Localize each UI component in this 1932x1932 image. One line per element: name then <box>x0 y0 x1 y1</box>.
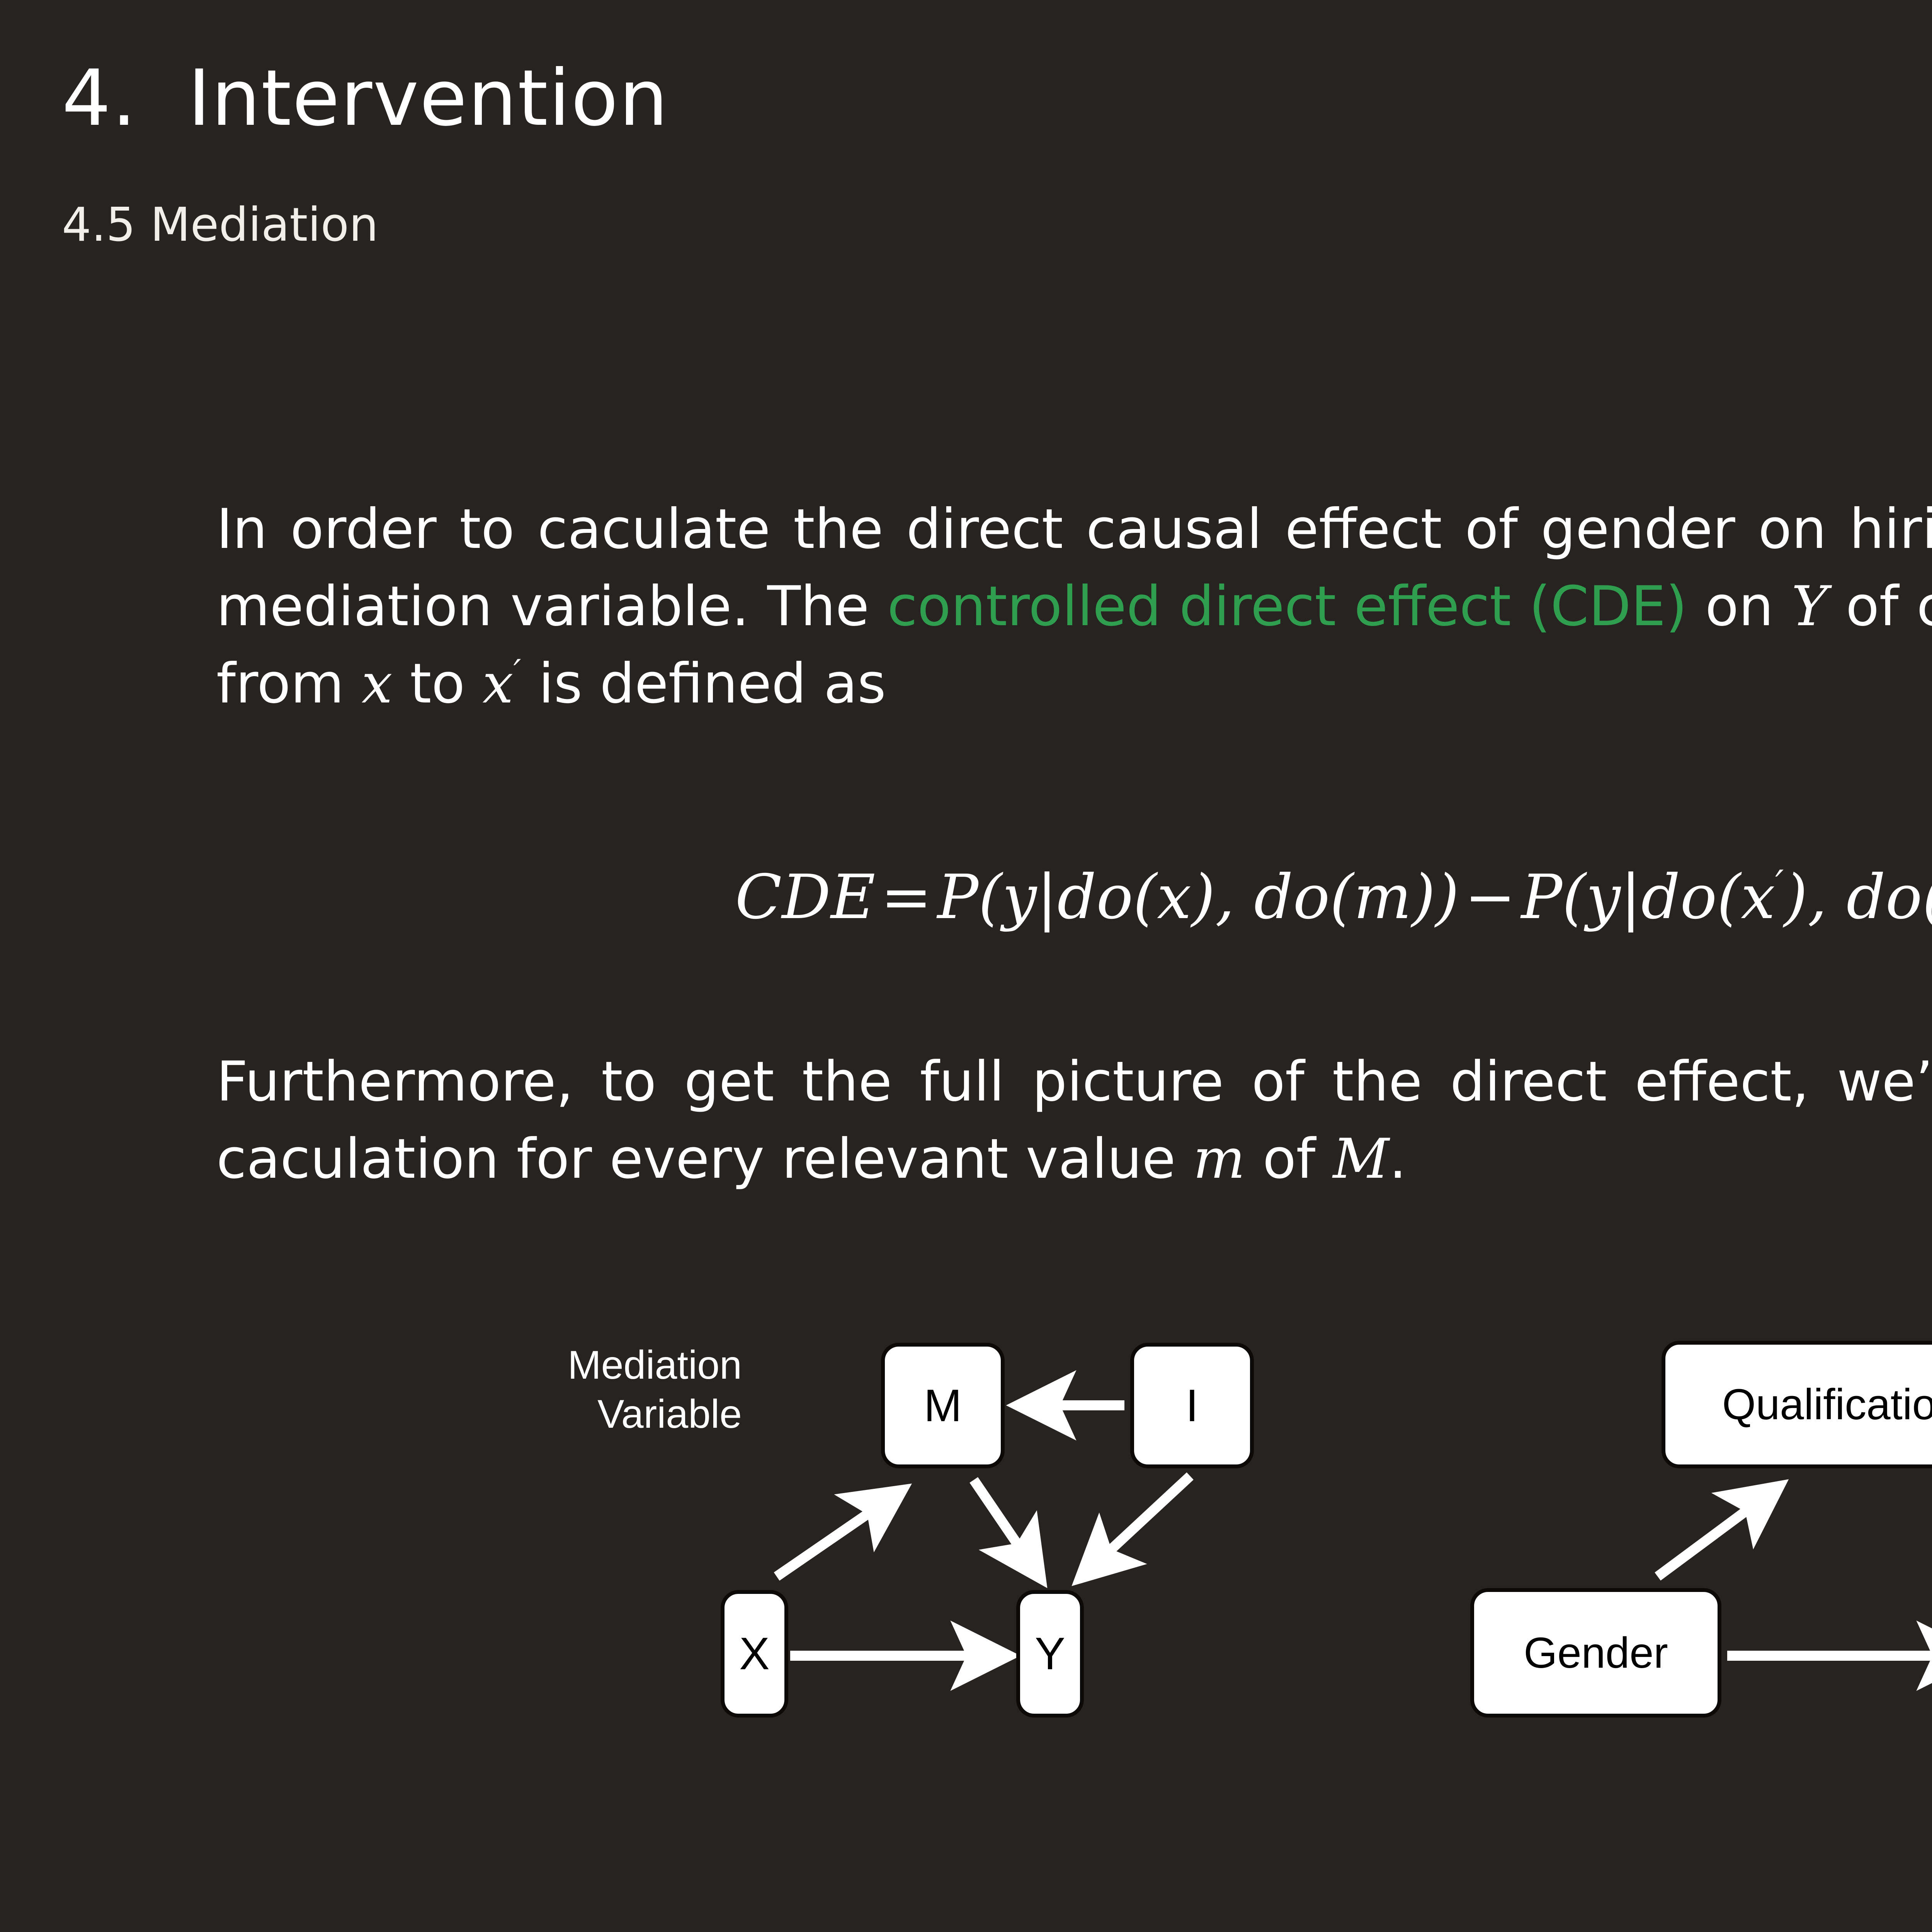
para1-math-x: x <box>362 652 393 716</box>
para2-text-1: Furthermore, to get the full picture of … <box>216 1050 1932 1191</box>
body-paragraph-1-container: In order to caculate the direct causal e… <box>216 491 1932 723</box>
edge-Gender-to-Qualification <box>1658 1488 1777 1577</box>
node-Y-label: Y <box>1035 1631 1065 1677</box>
node-X[interactable]: X <box>721 1590 788 1718</box>
page-subtitle: 4.5 Mediation <box>62 201 378 250</box>
para1-space-1 <box>1511 575 1529 638</box>
node-qualification-label: Qualification <box>1722 1383 1932 1426</box>
node-X-label: X <box>739 1631 770 1677</box>
para1-text-3: of changing the value of <box>1828 575 1932 638</box>
para1-accent-cde: (CDE) <box>1529 575 1687 638</box>
body-paragraph-2: Furthermore, to get the full picture of … <box>216 1043 1932 1198</box>
para1-text-4: from <box>216 652 362 716</box>
para1-math-x-prime: x <box>483 652 514 716</box>
para2-math-M: M <box>1333 1127 1389 1191</box>
para2-text-2: of <box>1245 1127 1333 1191</box>
node-Y[interactable]: Y <box>1016 1590 1084 1718</box>
cde-equation: CDE=P(y|do(x), do(m))−P(y|do(x′), do(m)) <box>0 862 1932 933</box>
caption-line-2: Variable <box>556 1390 742 1439</box>
body-paragraph-1: In order to caculate the direct causal e… <box>216 491 1932 723</box>
equation-equals-sign: = <box>875 862 937 933</box>
equation-prime-symbol: ′ <box>1775 862 1784 906</box>
para2-math-m: m <box>1193 1127 1245 1191</box>
node-M-label: M <box>924 1383 962 1429</box>
node-M[interactable]: M <box>881 1343 1005 1468</box>
equation-term-2-a: P(y|do(x <box>1521 862 1775 933</box>
para1-accent-controlled-direct-effect: controlled direct effect <box>887 575 1511 638</box>
equation-term-2-b: ), do(m)) <box>1784 862 1932 933</box>
page-title: 4. Intervention <box>62 58 669 139</box>
para1-text-2: on <box>1687 575 1791 638</box>
equation-term-1: P(y|do(x), do(m)) <box>937 862 1459 933</box>
para1-prime-symbol: ′ <box>514 652 521 692</box>
body-paragraph-2-container: Furthermore, to get the full picture of … <box>216 1043 1932 1198</box>
para1-text-6: is defined as <box>521 652 886 716</box>
node-I[interactable]: I <box>1130 1343 1254 1468</box>
equation-lhs: CDE <box>735 862 875 933</box>
edge-X-to-M <box>777 1492 900 1577</box>
causal-diagrams: Mediation Variable M I X Y Qualification… <box>0 1306 1932 1770</box>
node-I-label: I <box>1186 1383 1199 1429</box>
para1-math-Y: Y <box>1791 575 1828 638</box>
node-gender[interactable]: Gender <box>1470 1588 1721 1718</box>
para2-text-3: . <box>1389 1127 1406 1191</box>
caption-line-1: Mediation <box>556 1341 742 1390</box>
node-qualification[interactable]: Qualification <box>1662 1341 1932 1468</box>
node-gender-label: Gender <box>1524 1631 1668 1675</box>
mediation-variable-caption: Mediation Variable <box>556 1341 742 1439</box>
para1-text-5: to <box>393 652 483 716</box>
equation-minus-sign: − <box>1459 862 1521 933</box>
edge-I-to-Y <box>1082 1476 1190 1577</box>
edge-M-to-Y <box>974 1480 1039 1577</box>
